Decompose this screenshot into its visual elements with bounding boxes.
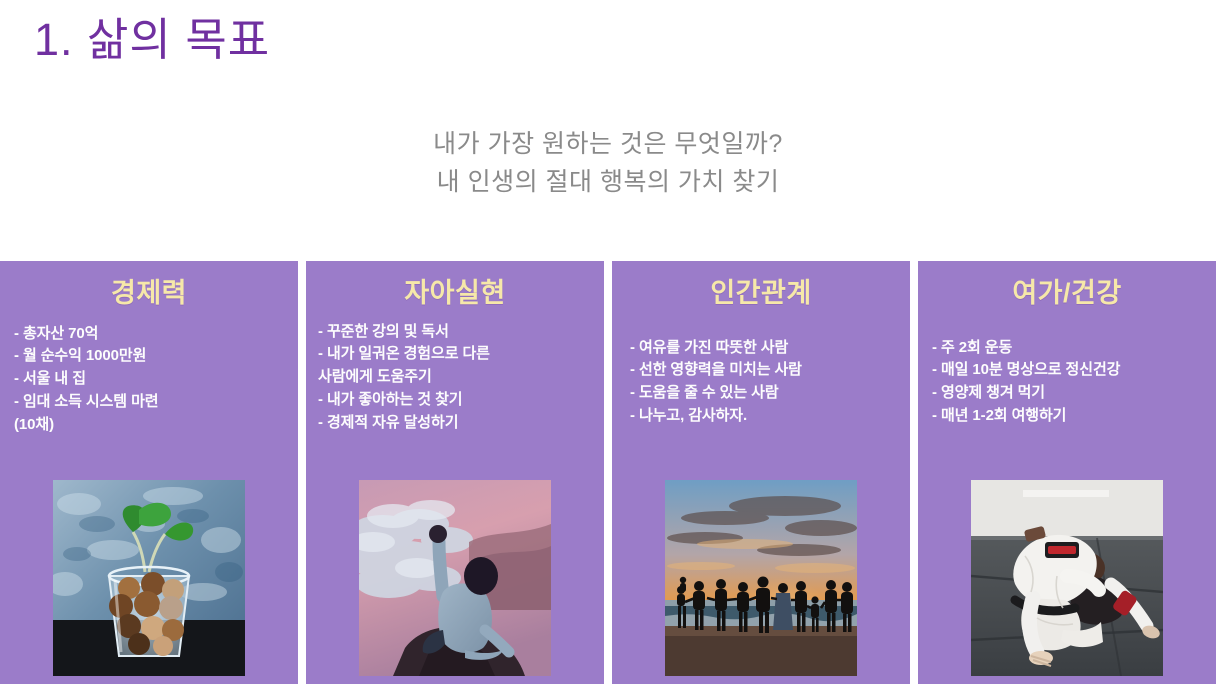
group-holding-hands-at-sunset-beach-photo	[665, 480, 857, 676]
column-bullets-economy: - 총자산 70억 - 월 순수익 1000만원 - 서울 내 집 - 임대 소…	[0, 323, 298, 437]
page-title: 1. 삶의 목표	[34, 14, 270, 66]
person-raising-fist-on-mountain-photo	[359, 480, 551, 676]
bullet-item: - 총자산 70억	[14, 323, 288, 346]
bullet-item: - 임대 소득 시스템 마련	[14, 391, 288, 414]
bullet-item: - 내가 좋아하는 것 찾기	[318, 389, 594, 412]
bullet-item: - 영양제 챙겨 먹기	[932, 382, 1206, 405]
column-header-economy: 경제력	[111, 279, 187, 309]
bullet-item: - 나누고, 감사하자.	[630, 405, 900, 428]
goal-column-economy[interactable]: 경제력 - 총자산 70억 - 월 순수익 1000만원 - 서울 내 집 - …	[0, 261, 298, 684]
bullet-item: - 주 2회 운동	[932, 337, 1206, 360]
bullet-item: - 경제적 자유 달성하기	[318, 412, 594, 435]
column-header-relationships: 인간관계	[710, 279, 811, 309]
goal-columns: 경제력 - 총자산 70억 - 월 순수익 1000만원 - 서울 내 집 - …	[0, 261, 1216, 684]
bullet-item: - 여유를 가진 따뜻한 사람	[630, 337, 900, 360]
plant-growing-in-glass-of-coins-photo	[53, 480, 245, 676]
subtitle-line-1: 내가 가장 원하는 것은 무엇일까?	[0, 127, 1216, 163]
subtitle-block: 내가 가장 원하는 것은 무엇일까? 내 인생의 절대 행복의 가치 찾기	[0, 127, 1216, 200]
slide-canvas: 1. 삶의 목표 내가 가장 원하는 것은 무엇일까? 내 인생의 절대 행복의…	[0, 0, 1216, 684]
column-bullets-relationships: - 여유를 가진 따뜻한 사람 - 선한 영향력을 미치는 사람 - 도움을 줄…	[612, 337, 910, 428]
goal-column-self-realization[interactable]: 자아실현 - 꾸준한 강의 및 독서 - 내가 일궈온 경험으로 다른 사람에게…	[306, 261, 604, 684]
bullet-item: - 서울 내 집	[14, 368, 288, 391]
column-bullets-self-realization: - 꾸준한 강의 및 독서 - 내가 일궈온 경험으로 다른 사람에게 도움주기…	[306, 321, 604, 435]
bullet-item: (10채)	[14, 414, 288, 437]
bullet-item: - 꾸준한 강의 및 독서	[318, 321, 594, 344]
column-bullets-leisure-health: - 주 2회 운동 - 매일 10분 명상으로 정신건강 - 영양제 챙겨 먹기…	[918, 337, 1216, 428]
subtitle-line-2: 내 인생의 절대 행복의 가치 찾기	[0, 165, 1216, 201]
column-header-leisure-health: 여가/건강	[1012, 279, 1121, 309]
bullet-item: 사람에게 도움주기	[318, 366, 594, 389]
bullet-item: - 매일 10분 명상으로 정신건강	[932, 359, 1206, 382]
jiu-jitsu-grappling-photo	[971, 480, 1163, 676]
column-header-self-realization: 자아실현	[404, 279, 505, 309]
bullet-item: - 선한 영향력을 미치는 사람	[630, 359, 900, 382]
goal-column-leisure-health[interactable]: 여가/건강 - 주 2회 운동 - 매일 10분 명상으로 정신건강 - 영양제…	[918, 261, 1216, 684]
bullet-item: - 내가 일궈온 경험으로 다른	[318, 343, 594, 366]
bullet-item: - 매년 1-2회 여행하기	[932, 405, 1206, 428]
bullet-item: - 월 순수익 1000만원	[14, 345, 288, 368]
goal-column-relationships[interactable]: 인간관계 - 여유를 가진 따뜻한 사람 - 선한 영향력을 미치는 사람 - …	[612, 261, 910, 684]
bullet-item: - 도움을 줄 수 있는 사람	[630, 382, 900, 405]
